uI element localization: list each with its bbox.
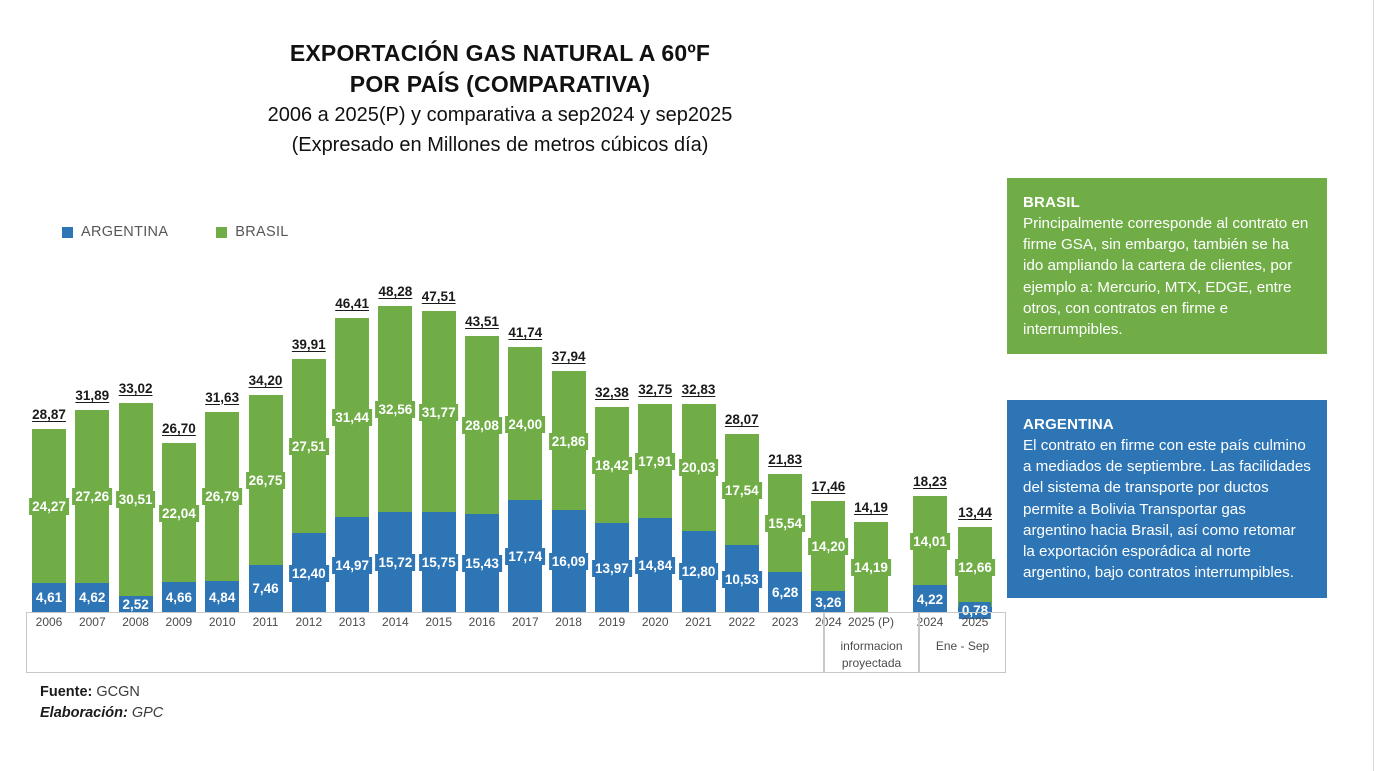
- bar-total-label: 26,70: [162, 421, 196, 437]
- bar-column[interactable]: 33,0230,512,52: [119, 403, 153, 612]
- bar-segment-brasil[interactable]: 28,08: [465, 336, 499, 514]
- bar-segment-label-argentina: 15,43: [462, 555, 502, 572]
- bar-segment-brasil[interactable]: 17,54: [725, 434, 759, 545]
- bar-column[interactable]: 28,8724,274,61: [32, 429, 66, 612]
- page-subtitle-line-1: 2006 a 2025(P) y comparativa a sep2024 y…: [0, 100, 1000, 130]
- bar-segment-argentina[interactable]: 14,97: [335, 517, 369, 612]
- page-title-line-1: EXPORTACIÓN GAS NATURAL A 60ºF: [0, 38, 1000, 68]
- bar-segment-brasil[interactable]: 27,26: [75, 410, 109, 583]
- bar-segment-label-brasil: 17,91: [635, 453, 675, 470]
- bar-segment-label-brasil: 18,42: [592, 457, 632, 474]
- page-subtitle-line-2: (Expresado en Millones de metros cúbicos…: [0, 130, 1000, 160]
- bar-segment-argentina[interactable]: 16,09: [552, 510, 586, 612]
- bar-segment-label-argentina: 4,66: [163, 589, 195, 606]
- bar-column[interactable]: 46,4131,4414,97: [335, 318, 369, 612]
- note-box-brasil: BRASIL Principalmente corresponde al con…: [1007, 178, 1327, 354]
- bar-segment-label-brasil: 26,79: [202, 488, 242, 505]
- bar-segment-label-argentina: 13,97: [592, 560, 632, 577]
- bar-total-label: 32,75: [638, 382, 672, 398]
- bar-column[interactable]: 32,8320,0312,80: [682, 404, 716, 612]
- footer-elaboration-row: Elaboración: GPC: [40, 703, 163, 724]
- bar-segment-label-brasil: 28,08: [462, 417, 502, 434]
- bar-column[interactable]: 26,7022,044,66: [162, 443, 196, 612]
- bar-total-label: 43,51: [465, 314, 499, 330]
- bar-column[interactable]: 31,8927,264,62: [75, 410, 109, 612]
- bar-total-label: 31,89: [75, 388, 109, 404]
- bar-total-label: 14,19: [854, 500, 888, 516]
- bar-column[interactable]: 32,3818,4213,97: [595, 407, 629, 612]
- bar-segment-brasil[interactable]: 32,56: [378, 306, 412, 512]
- bar-segment-brasil[interactable]: 24,27: [32, 429, 66, 583]
- bar-segment-brasil[interactable]: 14,20: [811, 501, 845, 591]
- bar-segment-label-argentina: 4,84: [206, 589, 238, 606]
- slide-canvas: EXPORTACIÓN GAS NATURAL A 60ºF POR PAÍS …: [0, 0, 1374, 771]
- bar-total-label: 32,83: [682, 382, 716, 398]
- bar-segment-argentina[interactable]: 4,61: [32, 583, 66, 612]
- bar-segment-label-argentina: 10,53: [722, 571, 762, 588]
- bar-total-label: 34,20: [249, 373, 283, 389]
- note-body-brasil: Principalmente corresponde al contrato e…: [1023, 213, 1311, 340]
- bar-segment-brasil[interactable]: 15,54: [768, 474, 802, 572]
- bar-column[interactable]: 43,5128,0815,43: [465, 336, 499, 612]
- bar-segment-label-argentina: 2,52: [119, 596, 151, 613]
- bar-total-label: 47,51: [422, 289, 456, 305]
- bar-column[interactable]: 13,4412,660,78: [958, 527, 992, 612]
- bar-segment-brasil[interactable]: 26,79: [205, 412, 239, 582]
- bar-segment-label-brasil: 15,54: [765, 515, 805, 532]
- axis-note-ene-sep: Ene - Sep: [919, 638, 1006, 655]
- bar-total-label: 31,63: [205, 390, 239, 406]
- bar-segment-brasil[interactable]: 14,01: [913, 496, 947, 585]
- bar-segment-brasil[interactable]: 14,19: [854, 522, 888, 612]
- axis-note-proyectada: informacionproyectada: [824, 638, 919, 672]
- bar-segment-label-brasil: 31,44: [332, 409, 372, 426]
- bar-column[interactable]: 14,1914,19: [854, 522, 888, 612]
- bar-column[interactable]: 32,7517,9114,84: [638, 404, 672, 612]
- bar-segment-label-brasil: 24,00: [505, 416, 545, 433]
- bar-segment-label-argentina: 14,84: [635, 557, 675, 574]
- footer-source-key: Fuente:: [40, 684, 92, 700]
- bar-segment-label-brasil: 17,54: [722, 482, 762, 499]
- bar-segment-label-brasil: 21,86: [549, 433, 589, 450]
- bar-segment-label-argentina: 7,46: [249, 580, 281, 597]
- bar-total-label: 32,38: [595, 385, 629, 401]
- bar-segment-label-brasil: 32,56: [375, 401, 415, 418]
- bar-segment-label-brasil: 14,19: [851, 559, 891, 576]
- bar-segment-argentina[interactable]: 7,46: [249, 565, 283, 612]
- bar-segment-argentina[interactable]: 14,84: [638, 518, 672, 612]
- bar-total-label: 37,94: [552, 349, 586, 365]
- bar-segment-label-brasil: 27,51: [289, 438, 329, 455]
- bar-total-label: 41,74: [508, 325, 542, 341]
- bar-segment-brasil[interactable]: 31,44: [335, 318, 369, 517]
- bar-column[interactable]: 48,2832,5615,72: [378, 306, 412, 612]
- bar-total-label: 17,46: [811, 479, 845, 495]
- bar-segment-label-brasil: 24,27: [29, 498, 69, 515]
- bar-segment-label-argentina: 3,26: [812, 594, 844, 611]
- page-title-line-2: POR PAÍS (COMPARATIVA): [0, 68, 1000, 100]
- title-block: EXPORTACIÓN GAS NATURAL A 60ºF POR PAÍS …: [0, 38, 1000, 160]
- bar-segment-argentina[interactable]: 4,22: [913, 585, 947, 612]
- footer-block: Fuente: GCGN Elaboración: GPC: [40, 682, 163, 724]
- bar-segment-label-argentina: 16,09: [549, 553, 589, 570]
- footer-source-value: GCGN: [96, 684, 140, 700]
- axis-note-proyectada-line-1: informacion: [824, 638, 919, 655]
- bar-segment-argentina[interactable]: 17,74: [508, 500, 542, 612]
- bar-segment-label-argentina: 12,80: [679, 563, 719, 580]
- bar-segment-label-argentina: 15,72: [375, 554, 415, 571]
- footer-elaboration-key: Elaboración:: [40, 705, 128, 721]
- bar-total-label: 28,87: [32, 407, 66, 423]
- bar-segment-label-brasil: 31,77: [419, 404, 459, 421]
- bar-segment-argentina[interactable]: 4,66: [162, 582, 196, 612]
- bar-segment-brasil[interactable]: 24,00: [508, 347, 542, 499]
- bar-total-label: 48,28: [378, 284, 412, 300]
- bar-segment-brasil[interactable]: 31,77: [422, 311, 456, 512]
- bar-segment-label-brasil: 27,26: [72, 488, 112, 505]
- bar-segment-brasil[interactable]: 30,51: [119, 403, 153, 596]
- bar-segment-brasil[interactable]: 26,75: [249, 395, 283, 565]
- bar-segment-label-brasil: 30,51: [116, 491, 156, 508]
- bar-column[interactable]: 17,4614,203,26: [811, 501, 845, 612]
- bar-total-label: 13,44: [958, 505, 992, 521]
- bar-segment-brasil[interactable]: 21,86: [552, 371, 586, 510]
- bar-segment-label-brasil: 14,01: [910, 533, 950, 550]
- bar-segment-brasil[interactable]: 27,51: [292, 359, 326, 533]
- bar-segment-label-argentina: 14,97: [332, 557, 372, 574]
- bar-column[interactable]: 41,7424,0017,74: [508, 347, 542, 612]
- bar-column[interactable]: 47,5131,7715,75: [422, 311, 456, 612]
- chart-plot-area: 28,8724,274,6131,8927,264,6233,0230,512,…: [26, 180, 1006, 612]
- bar-segment-label-brasil: 14,20: [808, 538, 848, 555]
- bar-segment-label-argentina: 4,62: [76, 589, 108, 606]
- bar-segment-label-brasil: 26,75: [246, 472, 286, 489]
- bar-column[interactable]: 28,0717,5410,53: [725, 434, 759, 612]
- axis-note-proyectada-line-2: proyectada: [824, 655, 919, 672]
- bar-segment-label-brasil: 12,66: [955, 559, 995, 576]
- note-body-argentina: El contrato en firme con este país culmi…: [1023, 435, 1311, 583]
- axis-group-annual: [26, 613, 824, 673]
- bar-total-label: 33,02: [119, 381, 153, 397]
- bar-segment-label-argentina: 4,61: [33, 589, 65, 606]
- bar-segment-label-argentina: 15,75: [419, 554, 459, 571]
- bar-segment-label-argentina: 4,22: [914, 591, 946, 608]
- bar-segment-argentina[interactable]: 15,43: [465, 514, 499, 612]
- bar-total-label: 28,07: [725, 412, 759, 428]
- bar-segment-brasil[interactable]: 17,91: [638, 404, 672, 518]
- bar-segment-argentina[interactable]: 6,28: [768, 572, 802, 612]
- footer-source-row: Fuente: GCGN: [40, 682, 163, 703]
- bar-segment-brasil[interactable]: 20,03: [682, 404, 716, 531]
- note-title-argentina: ARGENTINA: [1023, 414, 1311, 435]
- bar-segment-argentina[interactable]: 4,62: [75, 583, 109, 612]
- bar-segment-argentina[interactable]: 12,80: [682, 531, 716, 612]
- bar-column[interactable]: 18,2314,014,22: [913, 496, 947, 612]
- bar-segment-label-argentina: 12,40: [289, 565, 329, 582]
- bar-column[interactable]: 31,6326,794,84: [205, 412, 239, 612]
- bar-column[interactable]: 34,2026,757,46: [249, 395, 283, 612]
- bar-segment-argentina[interactable]: 13,97: [595, 523, 629, 612]
- bar-total-label: 21,83: [768, 452, 802, 468]
- bar-segment-label-brasil: 20,03: [679, 459, 719, 476]
- bar-column[interactable]: 21,8315,546,28: [768, 474, 802, 612]
- bar-segment-argentina[interactable]: 2,52: [119, 596, 153, 612]
- footer-elaboration-value: GPC: [132, 705, 163, 721]
- note-title-brasil: BRASIL: [1023, 192, 1311, 213]
- bar-segment-argentina[interactable]: 15,72: [378, 512, 412, 612]
- bar-column[interactable]: 37,9421,8616,09: [552, 371, 586, 612]
- bar-segment-label-argentina: 6,28: [769, 584, 801, 601]
- bar-segment-brasil[interactable]: 12,66: [958, 527, 992, 607]
- bar-segment-label-argentina: 17,74: [505, 548, 545, 565]
- bar-segment-argentina[interactable]: 15,75: [422, 512, 456, 612]
- bar-segment-argentina[interactable]: 4,84: [205, 581, 239, 612]
- bar-segment-brasil[interactable]: 18,42: [595, 407, 629, 524]
- note-box-argentina: ARGENTINA El contrato en firme con este …: [1007, 400, 1327, 598]
- bar-segment-argentina[interactable]: 3,26: [811, 591, 845, 612]
- bar-total-label: 46,41: [335, 296, 369, 312]
- bar-total-label: 18,23: [913, 474, 947, 490]
- bar-segment-brasil[interactable]: 22,04: [162, 443, 196, 583]
- bar-segment-argentina[interactable]: 10,53: [725, 545, 759, 612]
- bar-segment-label-brasil: 22,04: [159, 505, 199, 522]
- bar-total-label: 39,91: [292, 337, 326, 353]
- bar-segment-argentina[interactable]: 12,40: [292, 533, 326, 612]
- bar-column[interactable]: 39,9127,5112,40: [292, 359, 326, 612]
